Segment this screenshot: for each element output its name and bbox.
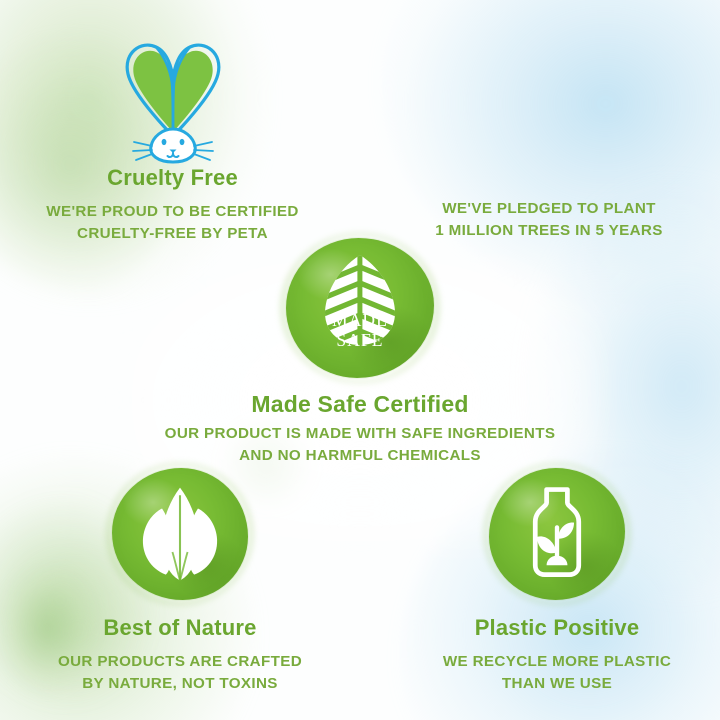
panel-description-we-plant-goodness: WE'VE PLEDGED TO PLANT 1 MILLION TREES I… bbox=[378, 198, 720, 242]
panel-description-made-safe: OUR PRODUCT IS MADE WITH SAFE INGREDIENT… bbox=[110, 423, 610, 467]
panel-title-made-safe: Made Safe Certified bbox=[110, 392, 610, 417]
panel-description-plastic-positive: WE RECYCLE MORE PLASTIC THAN WE USE bbox=[392, 651, 720, 695]
description-line: WE'VE PLEDGED TO PLANT bbox=[378, 198, 720, 220]
panel-cruelty-free: Cruelty Free WE'RE PROUD TO BE CERTIFIED… bbox=[0, 18, 345, 245]
best-of-nature-badge bbox=[112, 468, 248, 600]
description-line: WE'RE PROUD TO BE CERTIFIED bbox=[0, 201, 345, 223]
plastic-positive-badge bbox=[489, 468, 625, 600]
made-safe-badge: MADE SAFE bbox=[286, 238, 434, 378]
made-safe-leaf-icon: MADE SAFE bbox=[305, 249, 415, 367]
description-line: OUR PRODUCT IS MADE WITH SAFE INGREDIENT… bbox=[110, 423, 610, 445]
made-safe-word-2: SAFE bbox=[336, 330, 383, 350]
panel-best-of-nature: Best of Nature OUR PRODUCTS ARE CRAFTED … bbox=[10, 468, 350, 695]
description-line: WE RECYCLE MORE PLASTIC bbox=[392, 651, 720, 673]
description-line: BY NATURE, NOT TOXINS bbox=[10, 673, 350, 695]
description-line: AND NO HARMFUL CHEMICALS bbox=[110, 445, 610, 467]
description-line: OUR PRODUCTS ARE CRAFTED bbox=[10, 651, 350, 673]
panel-description-best-of-nature: OUR PRODUCTS ARE CRAFTED BY NATURE, NOT … bbox=[10, 651, 350, 695]
panel-title-best-of-nature: Best of Nature bbox=[10, 616, 350, 640]
made-safe-word-1: MADE bbox=[332, 310, 388, 330]
infographic-canvas: Cruelty Free WE'RE PROUD TO BE CERTIFIED… bbox=[0, 0, 720, 720]
panel-plastic-positive: Plastic Positive WE RECYCLE MORE PLASTIC… bbox=[392, 468, 720, 695]
three-leaves-icon bbox=[128, 482, 232, 586]
peta-bunny-heart-icon bbox=[112, 36, 234, 166]
panel-we-plant-goodness: we plant goodness WE'VE PLEDGED TO PLANT… bbox=[378, 62, 720, 242]
panel-made-safe: MADE SAFE Made Safe Certified OUR PRODUC… bbox=[110, 238, 610, 467]
bottle-sprout-icon bbox=[505, 482, 609, 586]
panel-title-plastic-positive: Plastic Positive bbox=[392, 616, 720, 640]
panel-title-cruelty-free: Cruelty Free bbox=[0, 166, 345, 190]
description-line: THAN WE USE bbox=[392, 673, 720, 695]
